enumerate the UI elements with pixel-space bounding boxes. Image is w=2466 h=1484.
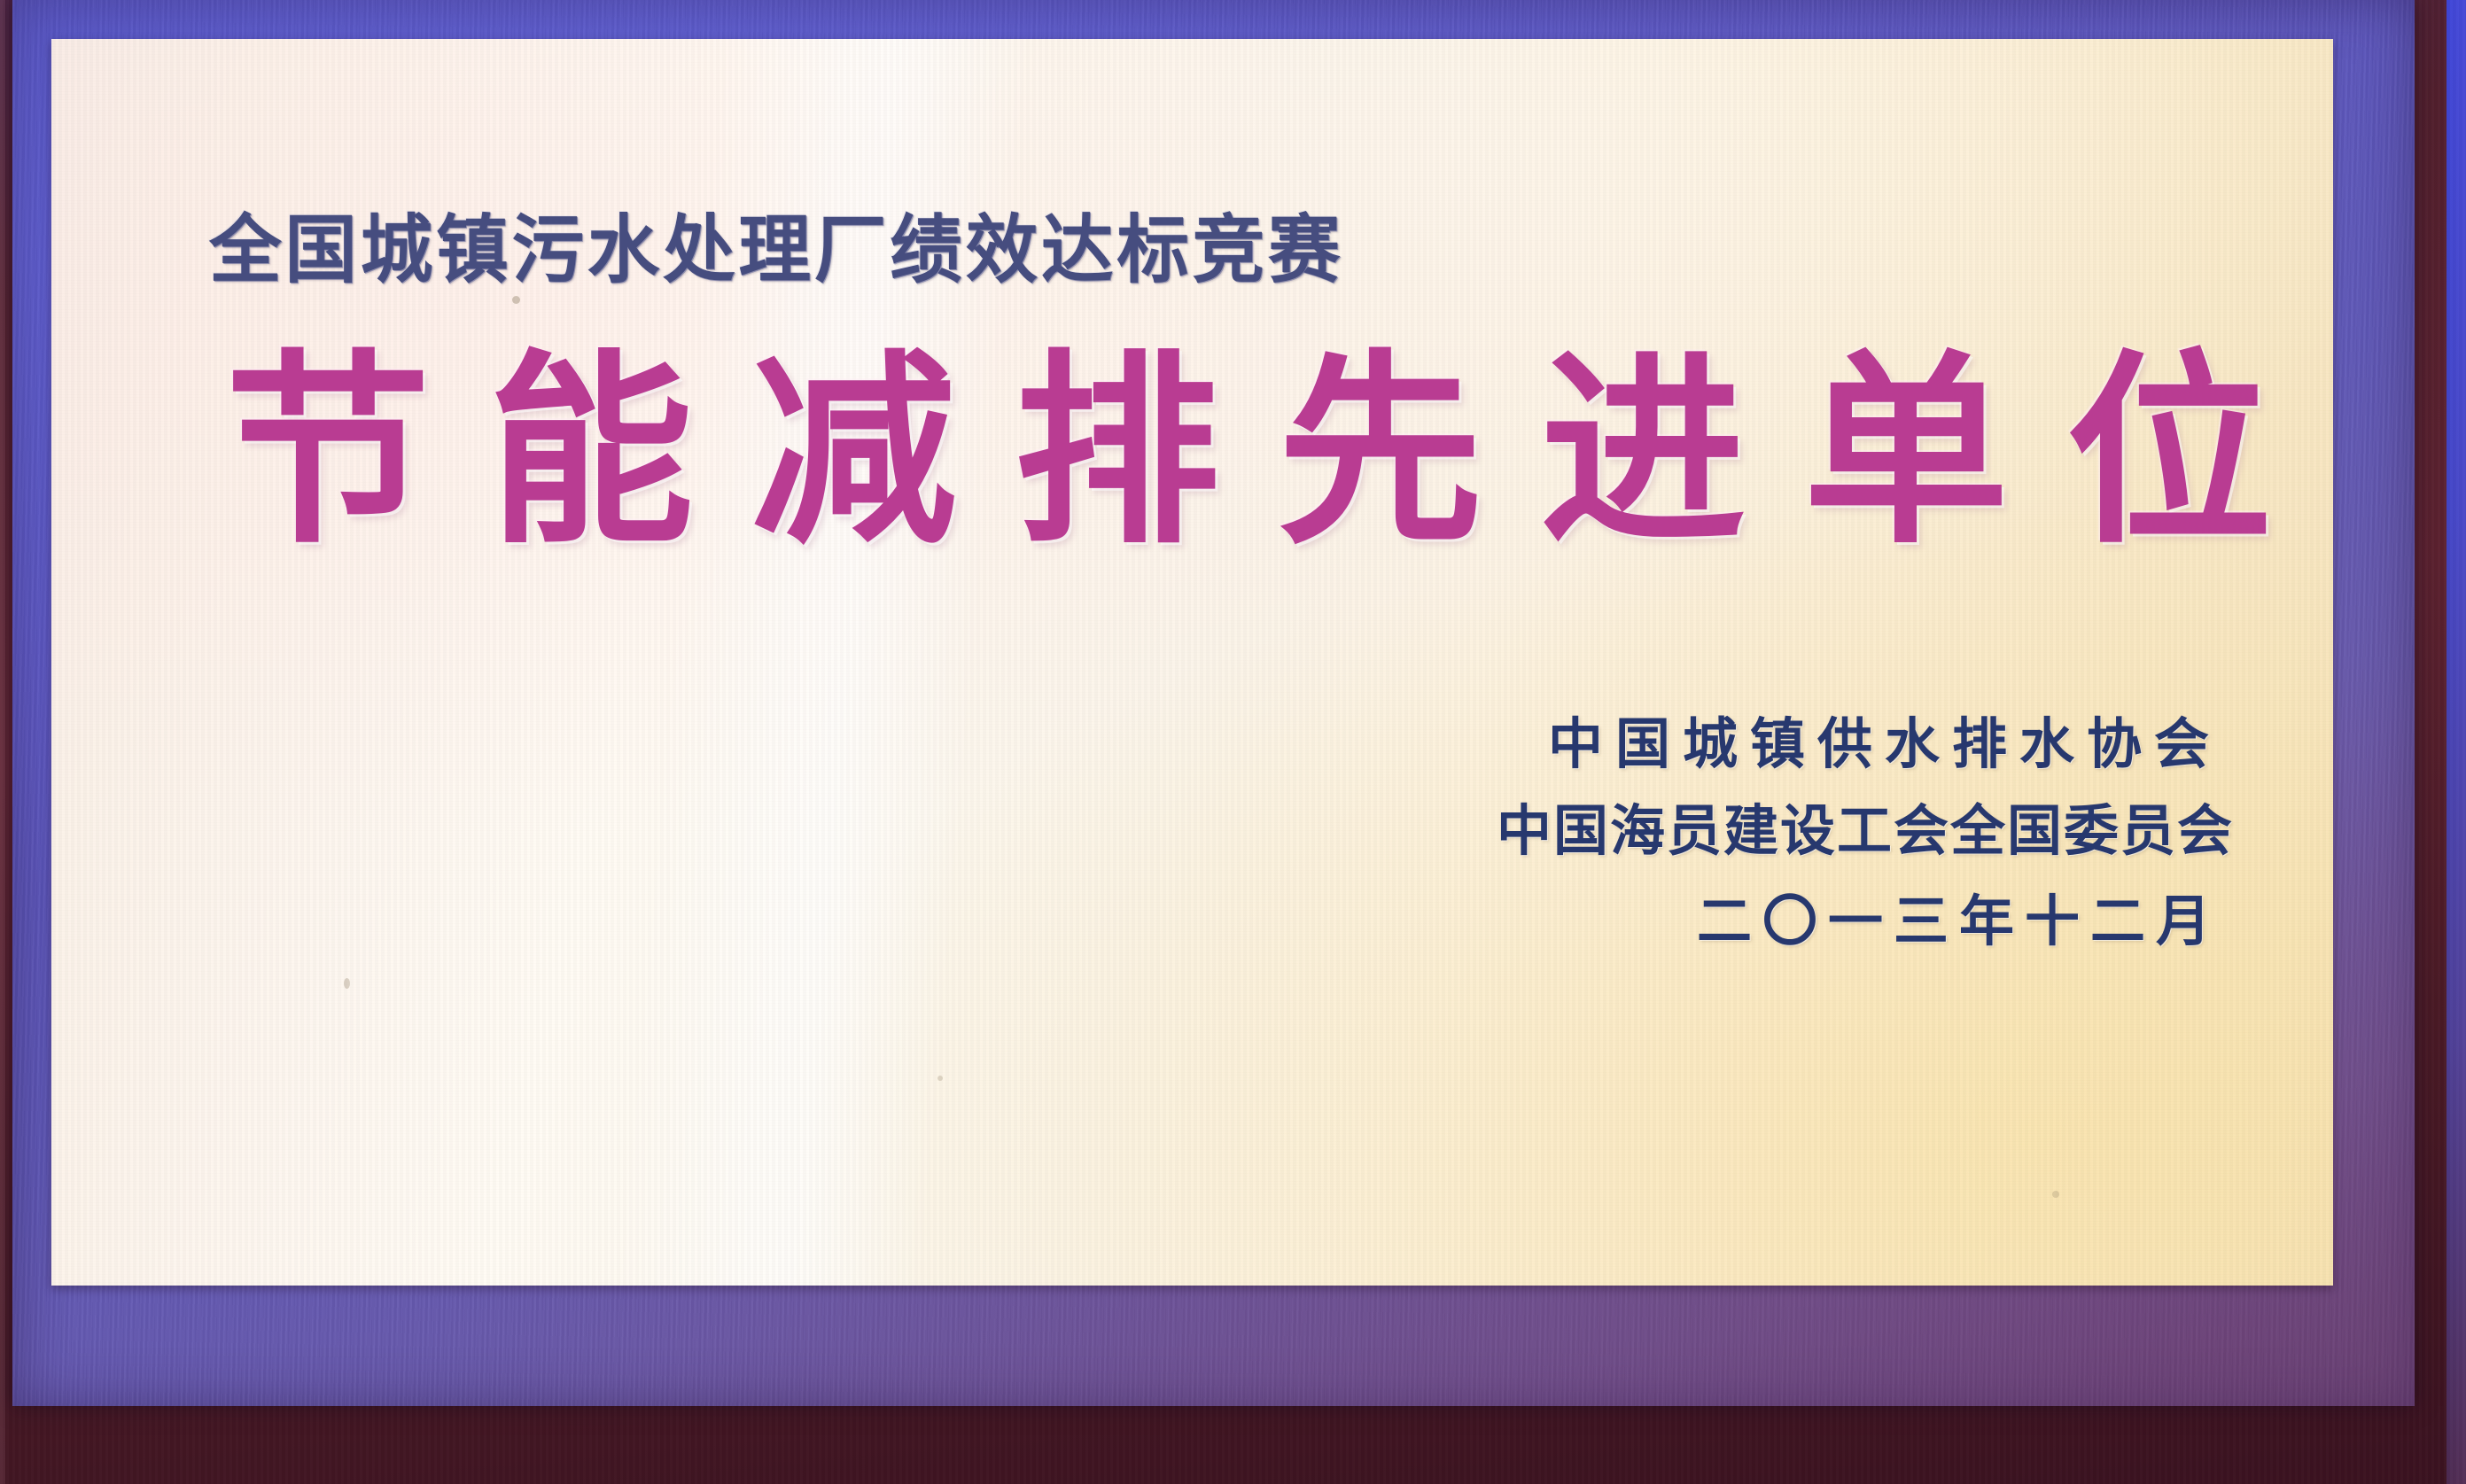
award-title-char: 位 <box>2066 349 2272 555</box>
surface-speck <box>2052 1191 2059 1198</box>
issue-date: 二〇一三年十二月 <box>1497 894 2234 949</box>
award-title-char: 单 <box>1803 349 2009 555</box>
surface-speck <box>344 978 350 989</box>
award-title-char: 能 <box>488 349 694 555</box>
award-title-char: 节 <box>225 349 431 555</box>
issuing-organization-secondary: 中国海员建设工会全国委员会 <box>1497 804 2234 859</box>
competition-heading: 全国城镇污水处理厂绩效达标竞赛 <box>209 213 1343 287</box>
award-plaque-face: 全国城镇污水处理厂绩效达标竞赛 节 能 减 排 先 进 单 位 中国城镇供水排水… <box>51 39 2333 1286</box>
award-title-char: 先 <box>1277 349 1482 555</box>
award-title-char: 减 <box>751 349 957 555</box>
award-title-char: 排 <box>1015 349 1220 555</box>
surface-speck <box>512 296 520 304</box>
surface-speck <box>937 1076 943 1081</box>
award-plaque-frame: 全国城镇污水处理厂绩效达标竞赛 节 能 减 排 先 进 单 位 中国城镇供水排水… <box>0 0 2466 1484</box>
issuing-organization-primary: 中国城镇供水排水协会 <box>1497 717 2234 772</box>
issuer-signature-block: 中国城镇供水排水协会 中国海员建设工会全国委员会 二〇一三年十二月 <box>1497 717 2234 949</box>
award-title: 节 能 减 排 先 进 单 位 <box>225 349 2272 555</box>
award-title-char: 进 <box>1540 349 1746 555</box>
frame-edge-highlight <box>2447 0 2466 1484</box>
